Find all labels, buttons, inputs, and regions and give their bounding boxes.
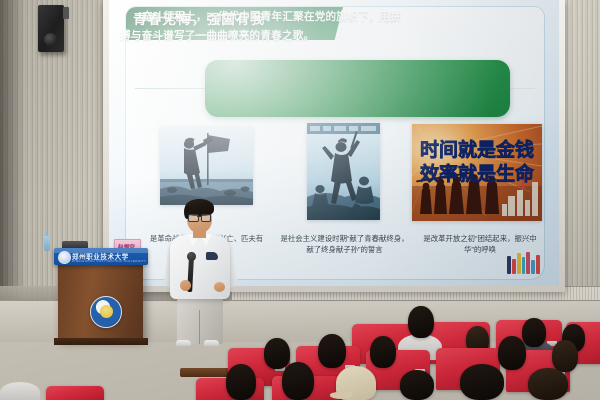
audience-head-9: [552, 340, 578, 372]
photo-construction-workers: [307, 123, 380, 220]
slide-quote-text: 奋斗征程上，一代代中国青年汇聚在党的旗帜下，用拼搏与奋斗谱写了一曲曲嘹亮的青春之…: [120, 8, 403, 46]
presenter-hand-right: [214, 282, 225, 292]
photo-time-is-money-poster: 时间就是金钱 效率就是生命: [412, 124, 542, 221]
audience-head-5: [264, 338, 290, 369]
books-decoration-icon: [507, 252, 543, 274]
audience-shoulders-left: [0, 382, 40, 400]
speaker-bracket: [63, 7, 69, 19]
audience-area: [0, 296, 600, 400]
audience-baseball-cap: [336, 366, 376, 400]
photo-caption-2: 是社会主义建设时期“献了青春献终身，献了终身献子孙”的誓言: [277, 233, 412, 255]
presenter-hand-left: [180, 280, 191, 291]
audience-head-12: [400, 370, 434, 400]
screenshot-root: 青春无悔，强国有我 奋斗征程上，一代代中国青年汇聚在党的旗帜下，用拼搏与奋斗谱写…: [0, 0, 600, 400]
photo-bugler-with-flag: [160, 127, 253, 205]
lectern-name-plate: 郑州职业技术大学 ZHENGZHOU POLYTECHNIC UNIVERSIT…: [54, 248, 148, 265]
audience-head-6: [318, 334, 346, 368]
wall-left-shadow: [0, 0, 26, 330]
slide-quote-box: [205, 60, 510, 117]
shirt-logo-icon: [206, 252, 218, 260]
audience-head-8: [498, 336, 526, 370]
audience-head-10: [226, 364, 256, 400]
water-bottle: [44, 236, 50, 251]
audience-head-2: [522, 318, 546, 347]
audience-head-13: [460, 364, 504, 400]
svg-text:效率就是生命: 效率就是生命: [420, 162, 535, 185]
audience-head-7: [370, 336, 396, 368]
svg-text:时间就是金钱: 时间就是金钱: [420, 138, 534, 161]
audience-head-11: [282, 362, 314, 400]
glasses-icon: [188, 214, 211, 220]
wall-loudspeaker-icon: [38, 5, 64, 52]
speaker-driver: [44, 33, 57, 46]
audience-head-14: [528, 368, 568, 400]
audience-head-1: [408, 306, 434, 338]
crest-small-icon: [58, 251, 71, 264]
university-name-en: ZHENGZHOU POLYTECHNIC UNIVERSITY: [72, 259, 146, 263]
seat-front-left: [46, 386, 104, 400]
